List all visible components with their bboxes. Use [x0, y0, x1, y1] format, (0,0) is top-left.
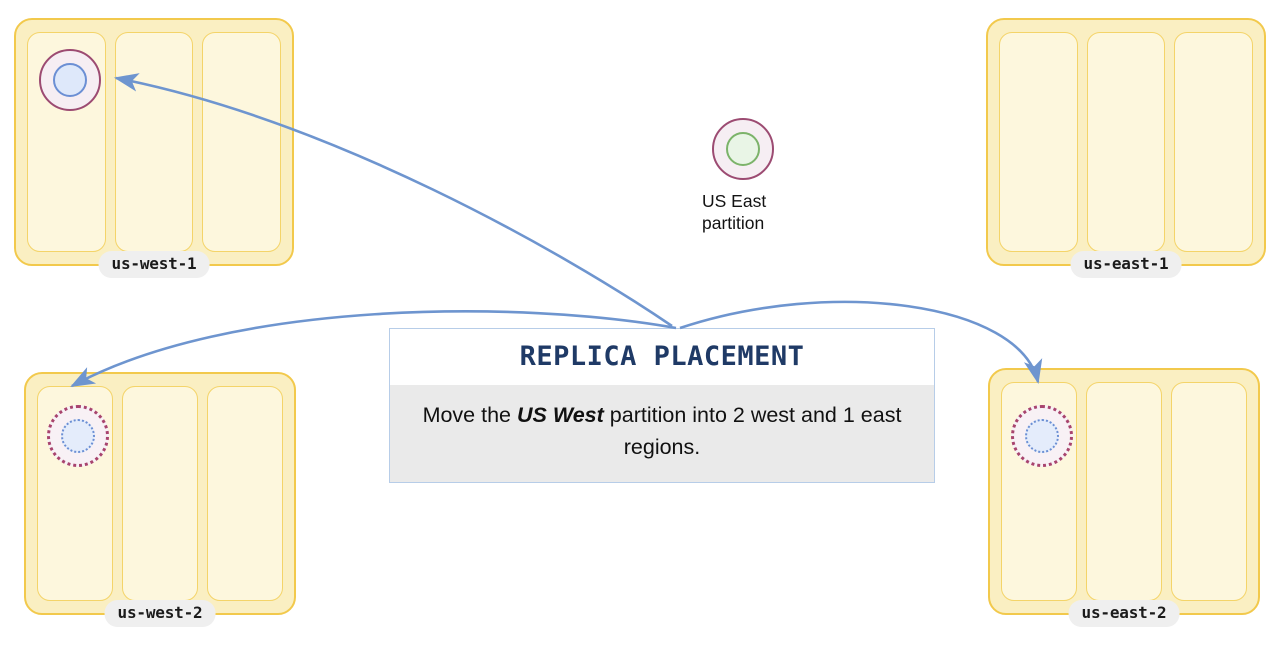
legend-line-2: partition	[702, 213, 850, 235]
availability-zone[interactable]	[999, 32, 1078, 252]
replica-us-west-1[interactable]	[39, 49, 101, 111]
availability-zone[interactable]	[37, 386, 113, 601]
callout-body: Move the US West partition into 2 west a…	[390, 385, 934, 482]
region-us-east-2[interactable]: us-east-2	[988, 368, 1260, 615]
region-label-us-west-1: us-west-1	[99, 251, 210, 278]
replica-us-west-2[interactable]	[47, 405, 109, 467]
region-label-us-west-2: us-west-2	[105, 600, 216, 627]
diagram-canvas: us-west-1 us-east-1 us-west-2 us-east-2	[0, 0, 1280, 658]
callout-body-emphasis: US West	[517, 403, 604, 427]
availability-zone[interactable]	[1087, 32, 1166, 252]
replica-core-icon	[1025, 419, 1059, 453]
availability-zone[interactable]	[115, 32, 194, 252]
availability-zone[interactable]	[27, 32, 106, 252]
legend-line-1: US East	[702, 191, 850, 213]
availability-zone[interactable]	[207, 386, 283, 601]
replica-us-east-2[interactable]	[1011, 405, 1073, 467]
replica-core-icon	[53, 63, 87, 97]
availability-zone[interactable]	[202, 32, 281, 252]
replica-placement-callout[interactable]: REPLICA PLACEMENT Move the US West parti…	[389, 328, 935, 483]
region-us-west-1[interactable]: us-west-1	[14, 18, 294, 266]
availability-zone[interactable]	[1001, 382, 1077, 601]
replica-core-icon	[61, 419, 95, 453]
legend-us-east-partition: US East partition	[700, 118, 850, 235]
legend-text: US East partition	[702, 191, 850, 235]
availability-zone[interactable]	[1174, 32, 1253, 252]
region-label-us-east-2: us-east-2	[1069, 600, 1180, 627]
callout-body-suffix: partition into 2 west and 1 east regions…	[604, 403, 902, 459]
availability-zone[interactable]	[122, 386, 198, 601]
region-us-west-2[interactable]: us-west-2	[24, 372, 296, 615]
partition-circle-icon	[712, 118, 774, 180]
availability-zone[interactable]	[1086, 382, 1162, 601]
partition-core-icon	[726, 132, 760, 166]
availability-zone[interactable]	[1171, 382, 1247, 601]
region-us-east-1[interactable]: us-east-1	[986, 18, 1266, 266]
region-label-us-east-1: us-east-1	[1071, 251, 1182, 278]
callout-body-prefix: Move the	[423, 403, 517, 427]
callout-title: REPLICA PLACEMENT	[390, 329, 934, 385]
